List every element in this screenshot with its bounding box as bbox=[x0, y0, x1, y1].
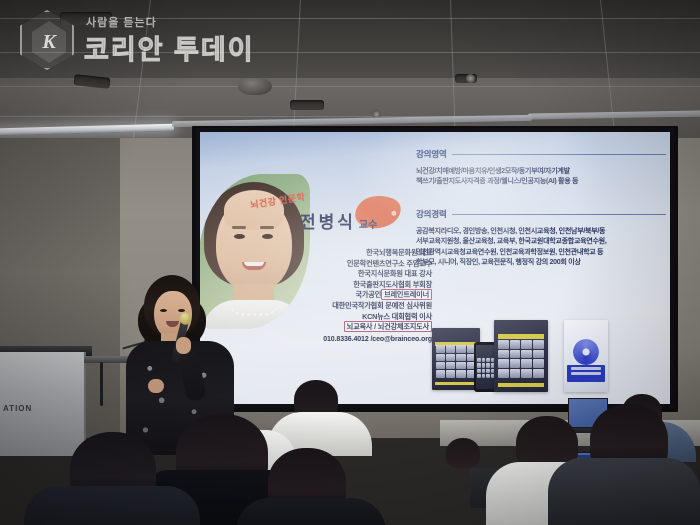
audience-torso bbox=[236, 498, 386, 525]
ceiling-vent bbox=[290, 100, 324, 110]
speaker-contact: 010.8336.4012 /ceo@brainceo.org bbox=[256, 334, 432, 345]
speaker-name: 전병식 bbox=[300, 213, 356, 232]
bio-line: 한국뇌행복문화원 대표 bbox=[256, 248, 432, 259]
book-cover-portrait-grid bbox=[498, 340, 543, 377]
podium-label: ATION bbox=[3, 404, 32, 413]
section-title: 강의경력 bbox=[416, 208, 446, 220]
audience-head bbox=[446, 438, 480, 468]
presenter-hand bbox=[148, 379, 164, 393]
section-line: 책쓰기/출판지도사자격증 과정/웰니스/인공지능(AI) 활용 등 bbox=[416, 176, 666, 186]
speaker-title: 교수 bbox=[359, 220, 377, 231]
projector-screen: 뇌건강 인문학 전병식교수 한국뇌행복문화원 대표 인문학컨텐츠연구소 주임교수… bbox=[200, 132, 670, 404]
section-line: 뇌건강/치매예방/마음치유/인생2모작/동기부여/자기계발 bbox=[416, 166, 666, 176]
bio-line: 인문학컨텐츠연구소 주임교수 bbox=[256, 259, 432, 270]
bio-line: 대한민국작가협회 문예전 심사위원 bbox=[256, 301, 432, 312]
book-title-band bbox=[567, 365, 606, 382]
section-line: 서부교육지원청, 울산교육청, 교육부, 한국교원대학교종합교육연수원, bbox=[416, 236, 666, 246]
blob-dot bbox=[391, 210, 397, 216]
av-cable bbox=[100, 362, 103, 406]
portrait-eye bbox=[262, 234, 273, 239]
logo-letter: K bbox=[32, 21, 66, 63]
bio-line-certs: 뇌교육사 / 뇌건강체조지도사 bbox=[256, 322, 432, 333]
section-lecture-areas: 강의영역 뇌건강/치매예방/마음치유/인생2모작/동기부여/자기계발 책쓰기/출… bbox=[416, 148, 666, 187]
portrait-eye bbox=[234, 234, 245, 239]
bio-line: 한국지식문화원 대표 강사 bbox=[256, 269, 432, 280]
speaker-name-row: 전병식교수 bbox=[300, 208, 377, 233]
bio-highlight-brain-trainer: 브레인트레이너 bbox=[381, 289, 432, 300]
hexagon-logo-icon: K bbox=[20, 10, 74, 70]
section-body: 공감복지라디오, 경인방송, 인천시청, 인천시교육청, 인천남부/북부/동 서… bbox=[416, 226, 666, 268]
ceiling-light-fixture bbox=[0, 124, 174, 136]
bio-line-certified: 국가공인브레인트레이너 bbox=[256, 290, 432, 301]
section-header: 강의영역 bbox=[416, 148, 666, 160]
book-tablet-cover bbox=[432, 328, 480, 390]
book-print-cover bbox=[494, 320, 548, 392]
ceiling-light-fixture bbox=[528, 110, 700, 119]
portrait-brow bbox=[260, 226, 274, 229]
screenshot-root: 뇌건강 인문학 전병식교수 한국뇌행복문화원 대표 인문학컨텐츠연구소 주임교수… bbox=[0, 0, 700, 525]
section-header: 강의경력 bbox=[416, 208, 666, 220]
spiral-icon bbox=[573, 339, 599, 365]
presenter-hand-holding-mic bbox=[176, 337, 191, 354]
book-white-cover bbox=[564, 320, 608, 392]
bio-boxed-prefix: 국가공인 bbox=[355, 290, 381, 299]
section-lecture-career: 강의경력 공감복지라디오, 경인방송, 인천시청, 인천시교육청, 인천남부/북… bbox=[416, 208, 666, 268]
bio-highlight-brain-educator: 뇌교육사 / 뇌건강체조지도사 bbox=[344, 321, 432, 332]
speaker-bio-list: 한국뇌행복문화원 대표 인문학컨텐츠연구소 주임교수 한국지식문화원 대표 강사… bbox=[256, 248, 432, 345]
portrait-brow bbox=[232, 226, 246, 229]
section-title: 강의영역 bbox=[416, 148, 446, 160]
book-covers-group bbox=[428, 318, 608, 394]
section-line: 학부모, 시니어, 직장인, 교육전문직, 행정직 강의 200회 이상 bbox=[416, 257, 666, 267]
presenter-eye bbox=[160, 309, 167, 312]
section-line: 공감복지라디오, 경인방송, 인천시청, 인천시교육청, 인천남부/북부/동 bbox=[416, 226, 666, 236]
audience-torso bbox=[24, 486, 200, 525]
book-cover-portrait-grid bbox=[436, 345, 476, 377]
section-line: 인천광역시교육청교육연수원, 인천교육과학정보원, 인천관내학교 등 bbox=[416, 247, 666, 257]
watermark-brand: 코리안 투데이 bbox=[84, 28, 255, 67]
ceiling-speaker-dome bbox=[238, 78, 272, 95]
section-body: 뇌건강/치매예방/마음치유/인생2모작/동기부여/자기계발 책쓰기/출판지도사자… bbox=[416, 166, 666, 187]
ceiling-sensor-icon bbox=[466, 74, 475, 83]
presentation-slide: 뇌건강 인문학 전병식교수 한국뇌행복문화원 대표 인문학컨텐츠연구소 주임교수… bbox=[200, 132, 670, 404]
audience-torso bbox=[548, 458, 700, 525]
watermark: K 사람을 듣는다 코리안 투데이 bbox=[14, 6, 264, 72]
section-rule bbox=[452, 214, 666, 215]
section-rule bbox=[452, 154, 666, 155]
